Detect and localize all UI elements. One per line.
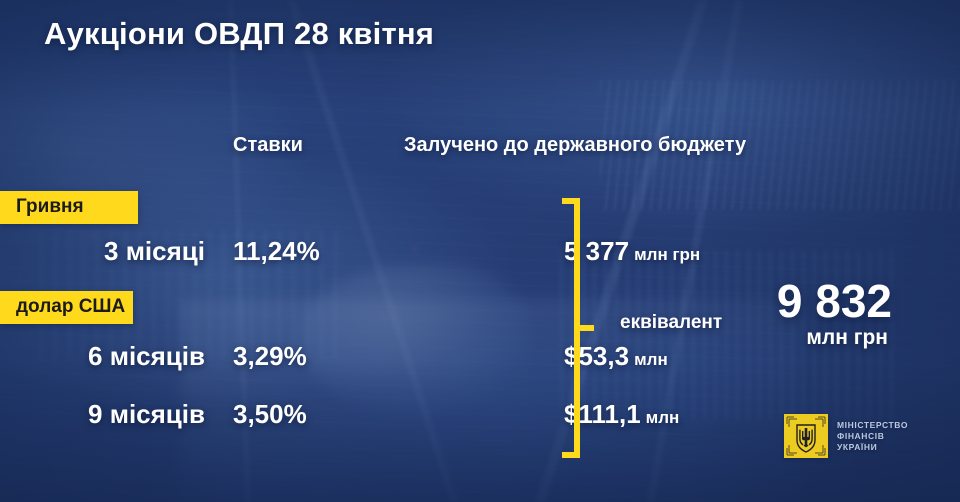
ministry-logo: МІНІСТЕРСТВО ФІНАНСІВ УКРАЇНИ bbox=[784, 414, 908, 458]
ministry-logo-line3: УКРАЇНИ bbox=[837, 442, 877, 452]
row-term: 9 місяців bbox=[88, 399, 205, 430]
ovdp-auction-infographic: Аукціони ОВДП 28 квітня Ставки Залучено … bbox=[0, 0, 960, 502]
row-term: 6 місяців bbox=[88, 341, 205, 372]
row-amount-unit: млн bbox=[646, 408, 680, 427]
row-amount-value: 5 377 bbox=[564, 236, 629, 266]
currency-badge-hryvnia: Гривня bbox=[0, 191, 138, 224]
row-amount: 5 377млн грн bbox=[564, 236, 700, 267]
total-unit: млн грн bbox=[806, 326, 888, 350]
ukraine-trident-icon bbox=[784, 414, 828, 458]
brace-arm-bottom bbox=[562, 452, 580, 458]
row-rate: 3,50% bbox=[233, 399, 307, 430]
row-amount-value: $111,1 bbox=[564, 399, 641, 429]
row-amount-unit: млн bbox=[634, 350, 668, 369]
total-label: еквівалент bbox=[620, 312, 722, 334]
row-amount-value: $53,3 bbox=[564, 341, 629, 371]
currency-badge-usd: долар США bbox=[0, 291, 133, 324]
column-header-rates: Ставки bbox=[233, 134, 303, 157]
total-value: 9 832 bbox=[777, 278, 892, 324]
row-amount: $111,1млн bbox=[564, 399, 679, 430]
row-rate: 3,29% bbox=[233, 341, 307, 372]
row-term: 3 місяці bbox=[104, 236, 205, 267]
brace-arm-top bbox=[562, 198, 580, 204]
row-amount-unit: млн грн bbox=[634, 245, 700, 264]
row-amount: $53,3млн bbox=[564, 341, 668, 372]
ministry-logo-line1: МІНІСТЕРСТВО bbox=[837, 420, 908, 430]
ministry-logo-line2: ФІНАНСІВ bbox=[837, 431, 884, 441]
ministry-logo-text: МІНІСТЕРСТВО ФІНАНСІВ УКРАЇНИ bbox=[837, 420, 908, 453]
page-title: Аукціони ОВДП 28 квітня bbox=[44, 16, 434, 52]
brace-pointer bbox=[574, 325, 594, 331]
column-header-raised: Залучено до державного бюджету bbox=[404, 134, 746, 157]
row-rate: 11,24% bbox=[233, 236, 320, 267]
